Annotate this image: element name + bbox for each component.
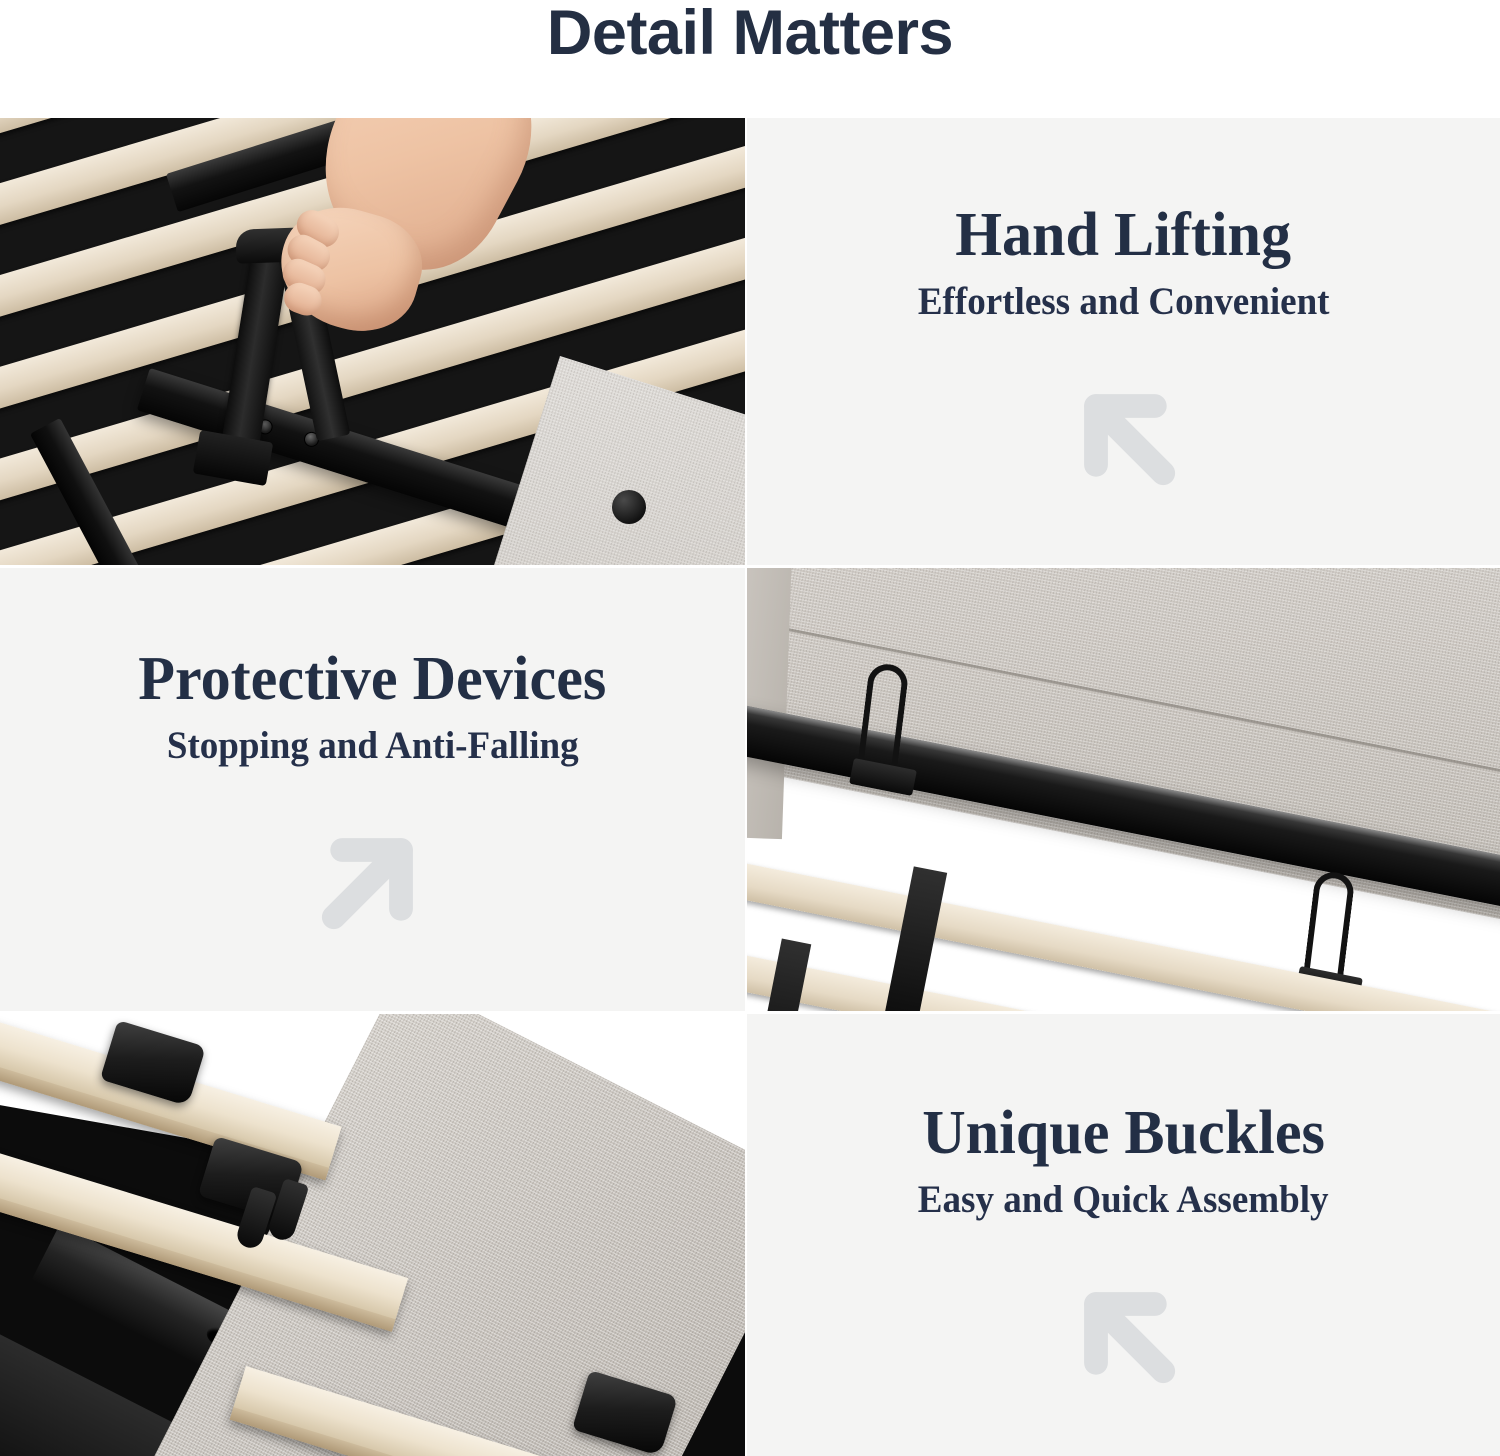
unique-buckles-photo (0, 1014, 745, 1456)
hand (262, 124, 492, 339)
arrow-up-right-icon (303, 808, 443, 948)
photo-safety-stopper-hooks (747, 568, 1500, 1011)
feature-title-protective-devices: Protective Devices (138, 646, 606, 713)
protective-devices-photo (747, 568, 1500, 1011)
arrow-up-left-icon (1054, 364, 1194, 504)
feature-subtitle-hand-lifting: Effortless and Convenient (918, 281, 1330, 324)
cross-brace-1 (881, 866, 947, 1011)
title-band: Detail Matters (0, 0, 1500, 118)
infographic-page: Detail Matters (0, 0, 1500, 1456)
feature-title-unique-buckles: Unique Buckles (922, 1100, 1325, 1167)
feature-grid: Hand Lifting Effortless and Convenient P… (0, 118, 1500, 1456)
feature-title-hand-lifting: Hand Lifting (956, 202, 1292, 269)
hand-lifting-photo (0, 118, 745, 565)
photo-slat-buckles (0, 1014, 745, 1456)
feature-subtitle-protective-devices: Stopping and Anti-Falling (167, 725, 579, 768)
page-title: Detail Matters (547, 0, 953, 65)
arrow-up-left-icon (1054, 1262, 1194, 1402)
protective-devices-text-panel: Protective Devices Stopping and Anti-Fal… (0, 568, 745, 1011)
hand-lifting-text-panel: Hand Lifting Effortless and Convenient (747, 118, 1500, 565)
unique-buckles-text-panel: Unique Buckles Easy and Quick Assembly (747, 1014, 1500, 1456)
headboard-post (747, 568, 792, 839)
bed-foot (612, 490, 646, 524)
photo-hand-lifting-bed-platform (0, 118, 745, 565)
feature-subtitle-unique-buckles: Easy and Quick Assembly (918, 1179, 1329, 1222)
